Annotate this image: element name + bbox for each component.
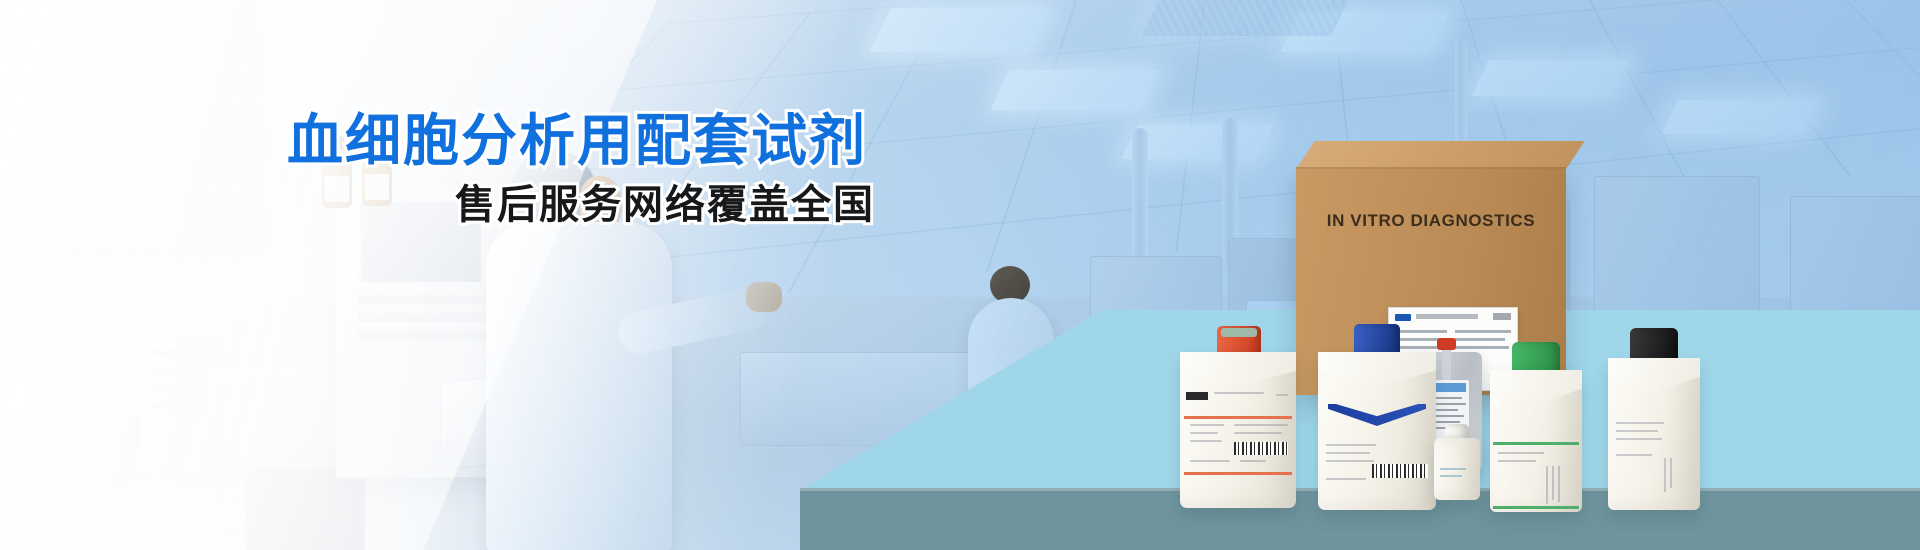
banner-headline: 血细胞分析用配套试剂: [287, 96, 867, 177]
hero-banner: IN VITRO DIAGNOSTICS: [0, 0, 1920, 550]
bottle-label: [1184, 402, 1292, 480]
reagent-jug-blue-cap: [1318, 324, 1436, 510]
bottle-barcode: [1234, 442, 1288, 455]
reagent-vial-white-cap: [1434, 424, 1480, 500]
vial-body: [1434, 438, 1480, 500]
carton-top-flap: [1296, 141, 1585, 169]
bottle-body: [1180, 352, 1296, 508]
bottle-shoulder: [1180, 352, 1296, 386]
label-stripe: [1493, 442, 1579, 445]
bottle-cap-black: [1630, 328, 1678, 362]
bottle-shoulder: [1490, 370, 1582, 404]
bottle-shoulder: [1608, 358, 1700, 392]
bottle-barcode: [1372, 464, 1428, 478]
carton-seam: [1296, 167, 1566, 169]
blue-chevron: [1328, 404, 1426, 426]
bottle-body: [1608, 358, 1700, 510]
bottle-body: [1318, 352, 1436, 510]
bottle-body: [1490, 370, 1582, 512]
banner-subheadline: 售后服务网络覆盖全国: [455, 172, 875, 230]
bottle-shoulder: [1318, 352, 1436, 386]
reagent-jug-red-cap: [1180, 326, 1296, 508]
reagent-bottle-black-cap: [1608, 328, 1700, 510]
label-stripe: [1493, 506, 1579, 509]
carton-label-text: IN VITRO DIAGNOSTICS: [1296, 211, 1566, 231]
reagent-bottle-green-cap: [1490, 342, 1582, 512]
